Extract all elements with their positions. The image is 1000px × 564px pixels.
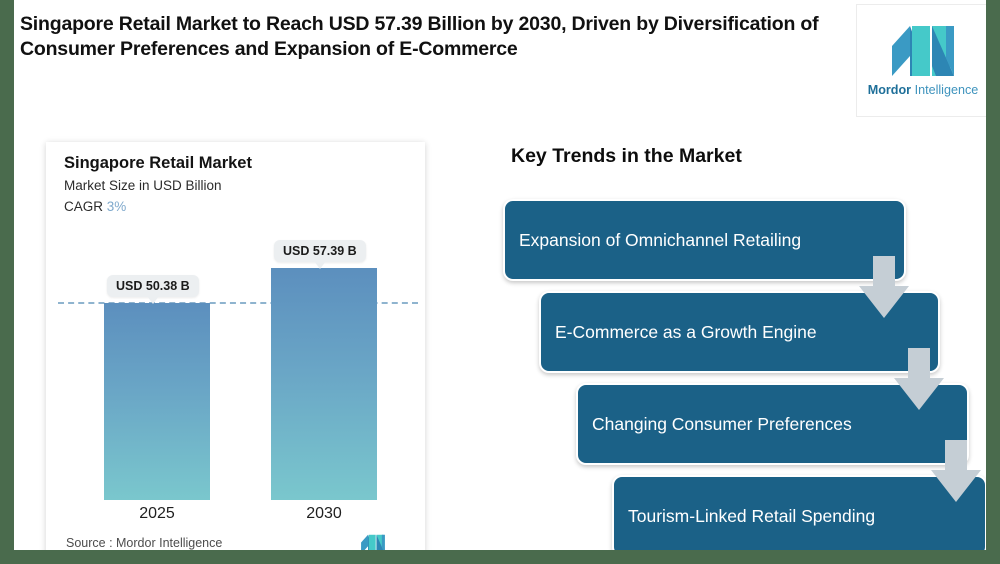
mordor-m-logo-small-icon [359,534,387,550]
brand-logo-text: Mordor Intelligence [868,83,979,97]
chart-source: Source : Mordor Intelligence [66,536,222,550]
trend-label: Changing Consumer Preferences [592,413,852,436]
page-title: Singapore Retail Market to Reach USD 57.… [20,12,840,63]
bar-label-2030: USD 57.39 B [274,240,366,262]
trend-box-expansion-of-omnichannel-retailing[interactable]: Expansion of Omnichannel Retailing [503,199,906,281]
mordor-m-logo-icon [890,24,956,76]
brand-name: Mordor [868,83,911,97]
brand-logo-card: Mordor Intelligence [856,4,986,117]
bar-2030 [271,268,377,500]
key-trends-heading: Key Trends in the Market [511,145,742,168]
x-axis-tick-2025: 2025 [104,505,210,523]
x-axis-tick-2030: 2030 [271,505,377,523]
down-arrow-icon-1 [859,256,909,318]
down-arrow-icon-2 [894,348,944,410]
trend-label: Tourism-Linked Retail Spending [628,505,875,528]
chart-card: Singapore Retail Market Market Size in U… [46,142,425,550]
brand-suffix: Intelligence [911,83,978,97]
bar-label-2025: USD 50.38 B [107,275,199,297]
trend-label: Expansion of Omnichannel Retailing [519,229,801,252]
down-arrow-icon-3 [931,440,981,502]
infographic-canvas: Singapore Retail Market to Reach USD 57.… [14,0,986,550]
bar-2025 [104,303,210,500]
trend-label: E-Commerce as a Growth Engine [555,321,817,344]
trend-box-tourism-linked-retail-spending[interactable]: Tourism-Linked Retail Spending [612,475,986,550]
bar-chart-plot: USD 50.38 B USD 57.39 B 2025 2030 [46,142,425,550]
